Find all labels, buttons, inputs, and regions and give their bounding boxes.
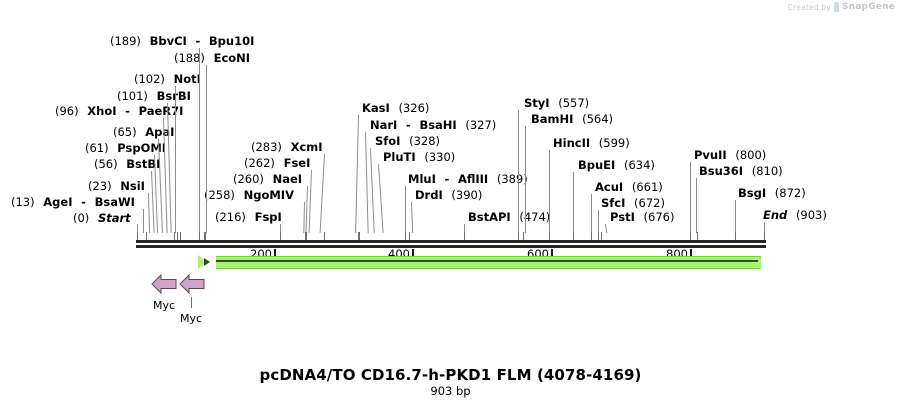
site-name: NgoMIV (244, 188, 294, 202)
site-label-bbvci-bpu10i[interactable]: (189) BbvCI - Bpu10I (110, 35, 254, 47)
site-name: PaeR7I (139, 104, 184, 118)
site-position: (800) (735, 148, 766, 162)
site-position: (216) (215, 210, 246, 224)
site-label-fspi[interactable]: (216) FspI (215, 211, 282, 223)
site-name: XhoI (87, 104, 116, 118)
leader-line (167, 103, 172, 233)
site-label-bamhi[interactable]: BamHI (564) (531, 113, 613, 125)
site-position: (56) (94, 157, 118, 171)
site-name: AcuI (595, 180, 623, 194)
site-position: (260) (233, 172, 264, 186)
leader-line (690, 162, 691, 233)
site-label-styi[interactable]: StyI (557) (524, 97, 589, 109)
site-position: (557) (558, 96, 589, 110)
leader-line (355, 115, 359, 233)
site-position: (0) (73, 211, 89, 225)
site-position: (283) (251, 140, 282, 154)
site-label-fsei[interactable]: (262) FseI (244, 157, 310, 169)
site-label-bsu36i[interactable]: Bsu36I (810) (699, 165, 783, 177)
site-position: (65) (113, 125, 137, 139)
site-name: DrdI (415, 188, 443, 202)
site-name: Bsu36I (699, 164, 743, 178)
leader-line (591, 194, 592, 233)
site-label-apai[interactable]: (65) ApaI (113, 126, 174, 138)
site-position: (188) (174, 51, 205, 65)
site-position: (872) (775, 186, 806, 200)
site-position: (61) (85, 141, 109, 155)
feature-leader-myc-2 (191, 297, 192, 308)
site-name: BsaWI (95, 195, 135, 209)
page-subtitle: 903 bp (0, 384, 901, 398)
site-label-sfci[interactable]: SfcI (672) (601, 197, 665, 209)
site-position: (810) (752, 164, 783, 178)
site-name: Start (98, 211, 131, 225)
site-label-econi[interactable]: (188) EcoNI (174, 52, 250, 64)
site-name: Bpu10I (209, 34, 254, 48)
site-name: NsiI (120, 179, 145, 193)
leader-line (735, 200, 736, 233)
site-name: AflIII (458, 172, 488, 186)
site-name: PstI (610, 210, 635, 224)
feature-label-myc-1: Myc (144, 299, 184, 312)
site-position: (189) (110, 34, 141, 48)
site-name: ApaI (145, 125, 174, 139)
site-position: (327) (465, 118, 496, 132)
site-label-agei-bsawi[interactable]: (13) AgeI - BsaWI (11, 196, 135, 208)
snapgene-watermark: Created by SnapGene (788, 2, 895, 12)
site-name: AgeI (43, 195, 72, 209)
site-label-bsrbi[interactable]: (101) BsrBI (117, 90, 191, 102)
site-position: (258) (204, 188, 235, 202)
site-position: (96) (55, 104, 79, 118)
site-name: BsrBI (157, 89, 191, 103)
leader-line (306, 186, 308, 233)
site-label-psti[interactable]: PstI (676) (610, 211, 674, 223)
leader-line (598, 210, 599, 233)
site-position: (564) (582, 112, 613, 126)
leader-line (206, 65, 207, 233)
site-label-ngomiv[interactable]: (258) NgoMIV (204, 189, 294, 201)
site-position: (903) (796, 208, 827, 222)
site-name: BsgI (738, 186, 766, 200)
site-label-xcmi[interactable]: (283) XcmI (251, 141, 323, 153)
watermark-created-by-label: Created by (788, 3, 831, 12)
site-label-kasi[interactable]: KasI (326) (362, 102, 429, 114)
feature-label-myc-2: Myc (171, 312, 211, 325)
leader-line (175, 86, 176, 233)
site-label-naei[interactable]: (260) NaeI (233, 173, 302, 185)
site-position: (102) (134, 72, 165, 86)
leader-line (143, 209, 144, 233)
site-position: (13) (11, 195, 35, 209)
leader-line (378, 164, 384, 233)
site-name: EcoNI (214, 51, 250, 65)
site-label-bstbi[interactable]: (56) BstBI (94, 158, 160, 170)
leader-line (405, 186, 406, 233)
backbone-bar-top (136, 240, 766, 243)
site-label-pluti[interactable]: PluTI (330) (383, 151, 455, 163)
site-label-hincii[interactable]: HincII (599) (553, 137, 630, 149)
plasmid-map-canvas: Created by SnapGene (189) BbvCI - Bpu10I… (0, 0, 901, 405)
site-position: (23) (88, 179, 112, 193)
site-position: (634) (624, 158, 655, 172)
site-label-xhoi-paer7i[interactable]: (96) XhoI - PaeR7I (55, 105, 183, 117)
site-position: (599) (599, 136, 630, 150)
site-name: MluI (408, 172, 436, 186)
site-label-nari-bsahi[interactable]: NarI - BsaHI (327) (370, 119, 496, 131)
site-name: NaeI (273, 172, 302, 186)
site-label-bstapi[interactable]: BstAPI (474) (468, 211, 550, 223)
site-label-pspomi[interactable]: (61) PspOMI (85, 142, 166, 154)
leader-line (320, 154, 325, 233)
snapgene-logo-icon (834, 2, 839, 12)
leader-line (199, 48, 200, 233)
site-label-acui[interactable]: AcuI (661) (595, 181, 663, 193)
site-name: StyI (524, 96, 550, 110)
site-name: End (763, 208, 787, 222)
site-name: FspI (255, 210, 282, 224)
site-name: BbvCI (150, 34, 187, 48)
site-name: FseI (284, 156, 311, 170)
site-name: KasI (362, 101, 390, 115)
site-name: XcmI (291, 140, 323, 154)
site-name: SfoI (375, 134, 400, 148)
feature-arrow-left-icon (150, 271, 178, 297)
site-label-pvuii[interactable]: PvuII (800) (694, 149, 766, 161)
site-position: (389) (497, 172, 528, 186)
site-name: NotI (174, 72, 201, 86)
site-label-start[interactable]: (0) Start (73, 212, 131, 224)
site-position: (390) (451, 188, 482, 202)
site-position: (661) (632, 180, 663, 194)
leader-line (309, 170, 312, 233)
orf-arrow-body (216, 256, 761, 269)
feature-arrow-left-icon (178, 271, 206, 297)
site-position: (328) (409, 134, 440, 148)
site-label-nsii[interactable]: (23) NsiI (88, 180, 145, 192)
site-label-sfoi[interactable]: SfoI (328) (375, 135, 440, 147)
leader-line (411, 202, 413, 233)
site-name: HincII (553, 136, 590, 150)
site-name: BstAPI (468, 210, 511, 224)
leader-line (573, 172, 574, 233)
site-label-end[interactable]: End (903) (763, 209, 827, 221)
site-position: (262) (244, 156, 275, 170)
site-position: (326) (398, 101, 429, 115)
site-name: NarI (370, 118, 397, 132)
leader-line (605, 224, 607, 233)
leader-line (148, 193, 150, 233)
leader-line (549, 150, 550, 233)
site-position: (672) (634, 196, 665, 210)
leader-line (696, 178, 697, 233)
leader-line (518, 110, 519, 233)
site-name: BsaHI (419, 118, 456, 132)
site-name: BamHI (531, 112, 573, 126)
site-label-bpuei[interactable]: BpuEI (634) (578, 159, 655, 171)
site-label-mlui-afliii[interactable]: MluI - AflIII (389) (408, 173, 528, 185)
watermark-brand-label: SnapGene (842, 2, 895, 12)
page-title: pcDNA4/TO CD16.7-h-PKD1 FLM (4078-4169) (0, 366, 901, 384)
orf-arrow-head-inner (204, 258, 210, 266)
leader-line (525, 126, 526, 233)
site-position: (101) (117, 89, 148, 103)
orf-arrow-line (216, 260, 758, 262)
site-label-noti[interactable]: (102) NotI (134, 73, 201, 85)
site-label-drdi[interactable]: DrdI (390) (415, 189, 482, 201)
site-position: (330) (424, 150, 455, 164)
site-name: PluTI (383, 150, 416, 164)
site-name: PvuII (694, 148, 727, 162)
site-position: (676) (644, 210, 675, 224)
leader-line (370, 148, 375, 233)
site-name: SfcI (601, 196, 625, 210)
site-name: BpuEI (578, 158, 615, 172)
site-label-bsgi[interactable]: BsgI (872) (738, 187, 806, 199)
leader-line (365, 132, 369, 233)
